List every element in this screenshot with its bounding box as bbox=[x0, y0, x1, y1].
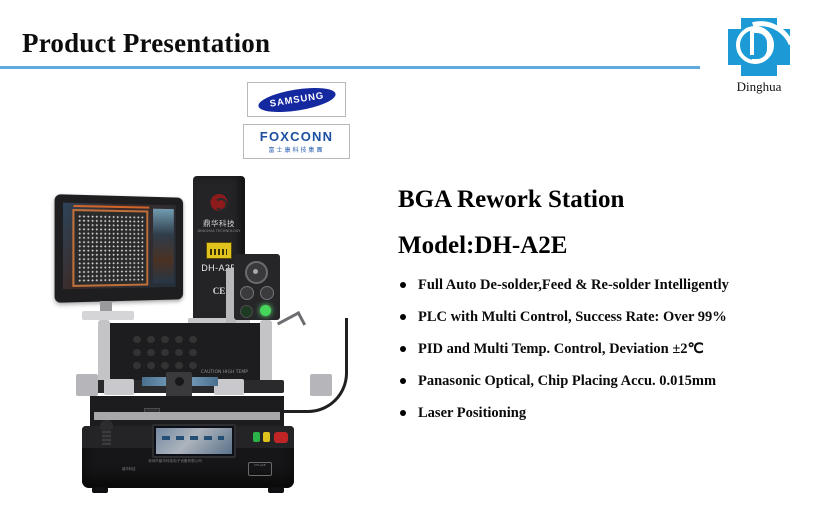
start-button[interactable] bbox=[253, 432, 260, 442]
monitor-stand-base bbox=[82, 311, 134, 320]
screen-scanline bbox=[73, 205, 149, 209]
monitor bbox=[55, 194, 184, 303]
logo-notch-icon bbox=[728, 65, 741, 76]
bga-chip-image bbox=[72, 209, 148, 287]
bullet-dot-icon bbox=[400, 378, 406, 384]
title-divider bbox=[0, 66, 700, 69]
samsung-ellipse-icon: SAMSUNG bbox=[256, 83, 336, 116]
warning-label-icon bbox=[206, 242, 232, 259]
dinghua-logo: Dinghua bbox=[714, 18, 804, 106]
lcd-display-area bbox=[156, 428, 232, 454]
foxconn-logo-box: FOXCONN 富士康科技集團 bbox=[243, 124, 350, 159]
tower-brand-cn: 鼎华科技 bbox=[193, 218, 245, 229]
logo-notch-icon bbox=[728, 18, 741, 29]
deck-rail-bar bbox=[94, 412, 280, 420]
product-headline: BGA Rework Station bbox=[398, 186, 624, 214]
samsung-logo-box: SAMSUNG bbox=[247, 82, 346, 117]
back-panel-note: CAUTION HIGH TEMP bbox=[201, 370, 248, 377]
feature-list: Full Auto De-solder,Feed & Re-solder Int… bbox=[400, 278, 815, 438]
rotary-knob[interactable] bbox=[245, 261, 268, 284]
product-photo: 鼎华科技 DINGHUA TECHNOLOGY DH-A2E CE CAUTIO… bbox=[38, 168, 368, 508]
feature-text: Full Auto De-solder,Feed & Re-solder Int… bbox=[418, 277, 729, 293]
feature-text: Laser Positioning bbox=[418, 405, 526, 421]
emergency-stop-button[interactable] bbox=[274, 432, 288, 443]
base-top-panel bbox=[82, 426, 294, 448]
base-foot-left bbox=[92, 487, 108, 493]
dinghua-logo-text: Dinghua bbox=[714, 79, 804, 95]
samsung-logo-text: SAMSUNG bbox=[269, 90, 325, 109]
lcd-readout-bars bbox=[162, 436, 224, 440]
bga-ball-grid bbox=[78, 214, 144, 282]
foxconn-logo-text: FOXCONN bbox=[260, 130, 333, 143]
control-head-panel bbox=[234, 254, 280, 320]
slide-canvas: Product Presentation Dinghua SAMSUNG FOX… bbox=[0, 0, 820, 522]
feature-text: PLC with Multi Control, Success Rate: Ov… bbox=[418, 309, 727, 325]
lcd-touchscreen[interactable] bbox=[152, 424, 236, 458]
base-brand-print: 鼎华科技 bbox=[122, 466, 136, 471]
screen-side-strip bbox=[153, 209, 174, 284]
list-item: Panasonic Optical, Chip Placing Accu. 0.… bbox=[400, 374, 815, 390]
page-title: Product Presentation bbox=[22, 28, 270, 59]
adjust-knob-right[interactable] bbox=[260, 286, 274, 300]
base-foot-right bbox=[268, 487, 284, 493]
pcb-clamp-left bbox=[104, 379, 134, 395]
pause-button[interactable] bbox=[263, 432, 270, 442]
product-model: Model:DH-A2E bbox=[398, 232, 567, 260]
bullet-dot-icon bbox=[400, 410, 406, 416]
joystick-control[interactable] bbox=[100, 420, 113, 446]
list-item: PID and Multi Temp. Control, Deviation ±… bbox=[400, 342, 815, 358]
pcb-clamp-right bbox=[214, 379, 244, 395]
tower-brand-icon bbox=[211, 194, 228, 211]
frame-post-left bbox=[98, 320, 110, 382]
list-item: Full Auto De-solder,Feed & Re-solder Int… bbox=[400, 278, 815, 294]
base-rating-plate: DH-A2E bbox=[248, 462, 272, 476]
bullet-dot-icon bbox=[400, 346, 406, 352]
adjust-knob-left[interactable] bbox=[240, 286, 254, 300]
machine-base: 鼎华科技 深圳市鼎华科技电子设备有限公司 DH-A2E bbox=[82, 426, 294, 488]
power-cable bbox=[283, 318, 348, 413]
monitor-screen bbox=[63, 203, 176, 290]
status-led-on bbox=[260, 305, 271, 316]
rail-arm-right bbox=[310, 374, 332, 396]
frame-post-right bbox=[260, 320, 272, 382]
list-item: PLC with Multi Control, Success Rate: Ov… bbox=[400, 310, 815, 326]
list-item: Laser Positioning bbox=[400, 406, 815, 422]
back-panel-vents bbox=[130, 333, 200, 373]
bullet-dot-icon bbox=[400, 314, 406, 320]
rail-arm-left bbox=[76, 374, 98, 396]
dinghua-logo-mark bbox=[728, 18, 790, 76]
tower-brand-sub: DINGHUA TECHNOLOGY bbox=[193, 229, 245, 233]
feature-text: Panasonic Optical, Chip Placing Accu. 0.… bbox=[418, 373, 716, 389]
feature-text: PID and Multi Temp. Control, Deviation ±… bbox=[418, 341, 704, 357]
joystick-boot-icon bbox=[102, 429, 111, 445]
foxconn-logo-subtext: 富士康科技集團 bbox=[268, 145, 324, 154]
base-company-print: 深圳市鼎华科技电子设备有限公司 bbox=[148, 458, 202, 464]
bullet-dot-icon bbox=[400, 282, 406, 288]
status-led-off bbox=[240, 305, 253, 318]
foxconn-logo-inner: FOXCONN 富士康科技集團 bbox=[244, 125, 349, 158]
